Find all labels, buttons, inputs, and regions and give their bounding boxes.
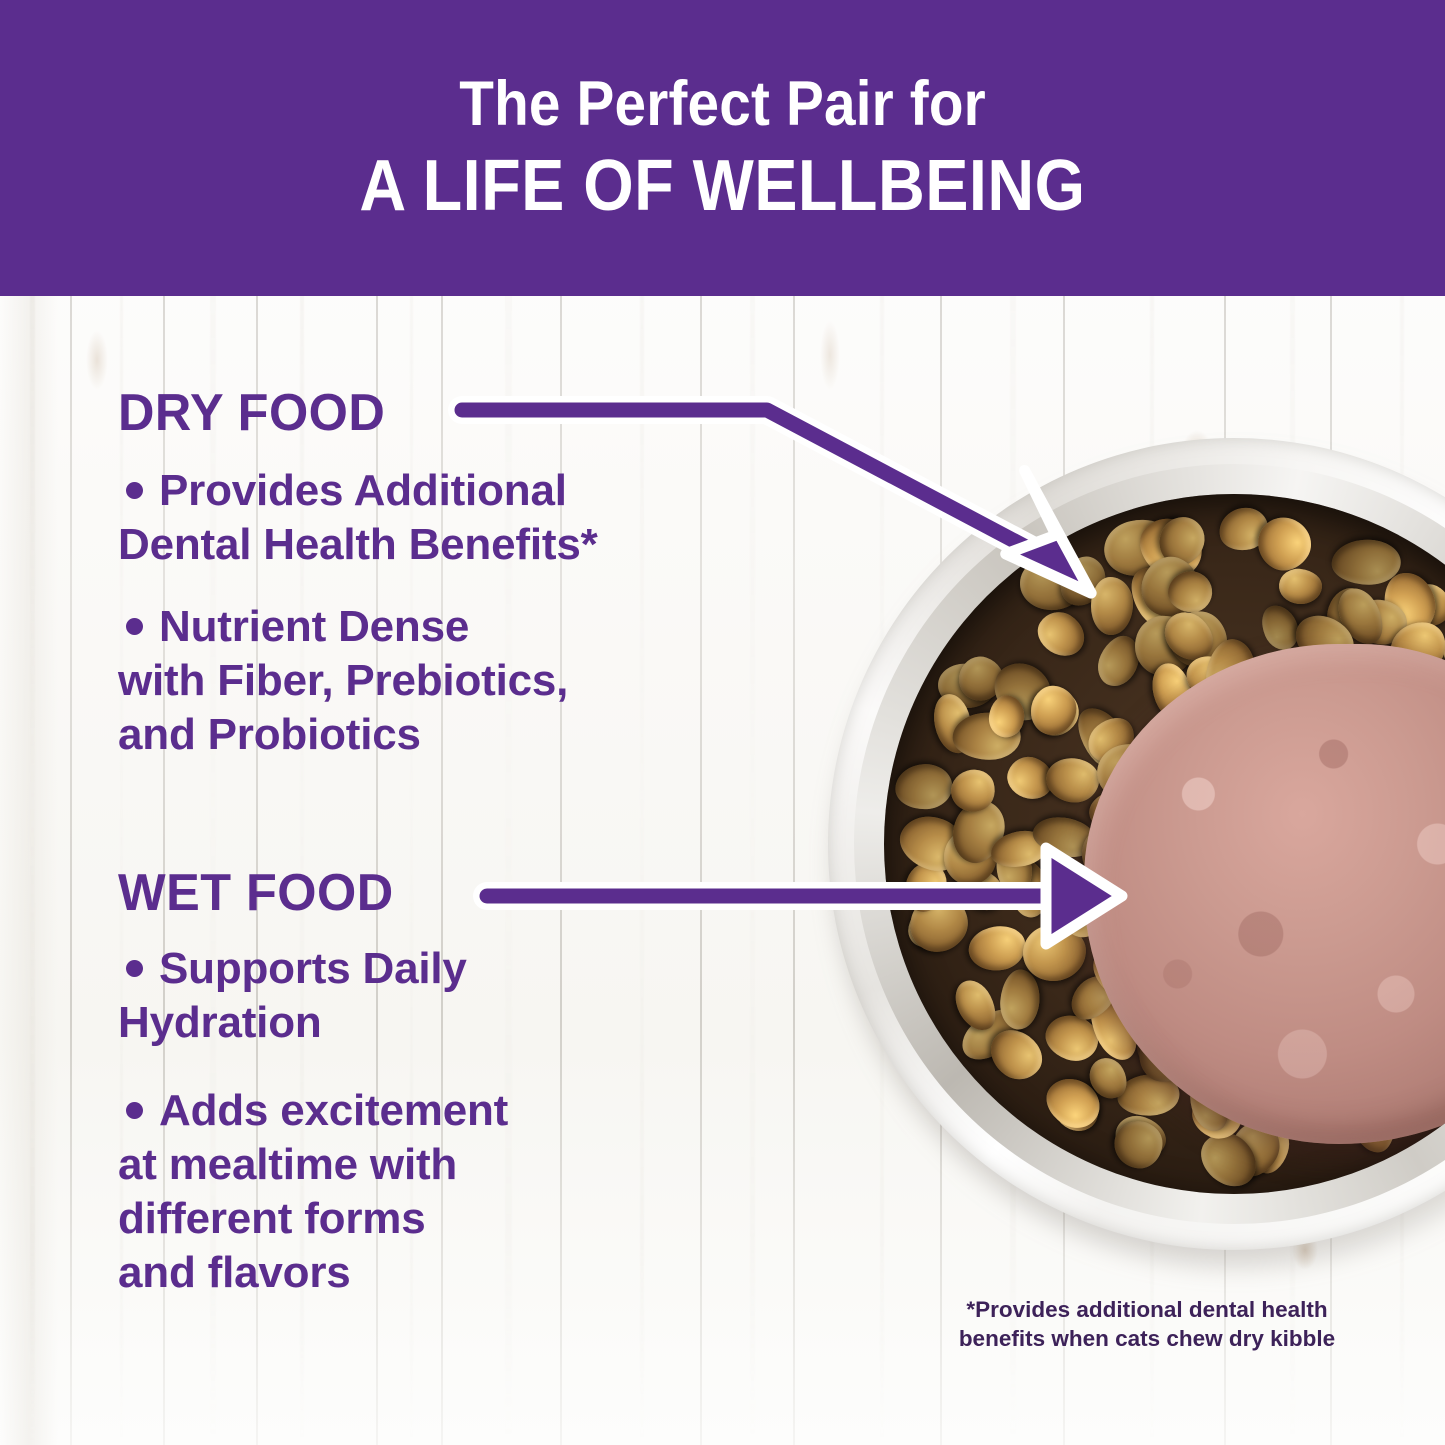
bullet-dot-icon (126, 618, 143, 635)
bullet-dry-1-line-2: Dental Health Benefits* (118, 520, 598, 569)
bullet-wet-2-line-3: different forms (118, 1194, 425, 1243)
kibble-piece (1278, 567, 1324, 606)
bullet-dry-2-line-3: and Probiotics (118, 710, 421, 759)
section-heading-wet-food: WET FOOD (118, 863, 394, 923)
kibble-piece (1332, 540, 1401, 585)
header-line-1: The Perfect Pair for (459, 72, 986, 136)
footnote: *Provides additional dental health benef… (932, 1296, 1362, 1354)
bullet-wet-1-line-1: Supports Daily (159, 944, 467, 993)
header-banner: The Perfect Pair for A LIFE OF WELLBEING (0, 0, 1445, 296)
bullet-dry-2-line-1: Nutrient Dense (159, 602, 469, 651)
kibble-piece (965, 922, 1029, 975)
bullet-dry-2: Nutrient Dense with Fiber, Prebiotics, a… (118, 600, 798, 762)
bullet-wet-1: Supports Daily Hydration (118, 942, 798, 1050)
section-heading-dry-food: DRY FOOD (118, 383, 385, 443)
kibble-piece (1030, 604, 1093, 664)
promo-graphic: The Perfect Pair for A LIFE OF WELLBEING… (0, 0, 1445, 1445)
bullet-dot-icon (126, 482, 143, 499)
bullet-dot-icon (126, 960, 143, 977)
bullet-dot-icon (126, 1102, 143, 1119)
bullet-wet-2: Adds excitement at mealtime with differe… (118, 1084, 798, 1300)
bullet-wet-2-line-4: and flavors (118, 1248, 351, 1297)
kibble-piece (894, 763, 954, 811)
bullet-wet-1-line-2: Hydration (118, 998, 322, 1047)
kibble-piece (998, 968, 1042, 1031)
cat-food-bowl (828, 438, 1445, 1258)
header-title: A LIFE OF WELLBEING (359, 150, 1085, 223)
bullet-dry-2-line-2: with Fiber, Prebiotics, (118, 656, 568, 705)
kibble-piece (1044, 756, 1100, 804)
kibble-piece (1091, 577, 1133, 635)
bullet-wet-2-line-1: Adds excitement (159, 1086, 508, 1135)
bullet-dry-1-line-1: Provides Additional (159, 466, 567, 515)
footnote-line-1: *Provides additional dental health (966, 1297, 1327, 1322)
footnote-line-2: benefits when cats chew dry kibble (959, 1326, 1335, 1351)
bullet-wet-2-line-2: at mealtime with (118, 1140, 457, 1189)
bullet-dry-1: Provides Additional Dental Health Benefi… (118, 464, 798, 572)
